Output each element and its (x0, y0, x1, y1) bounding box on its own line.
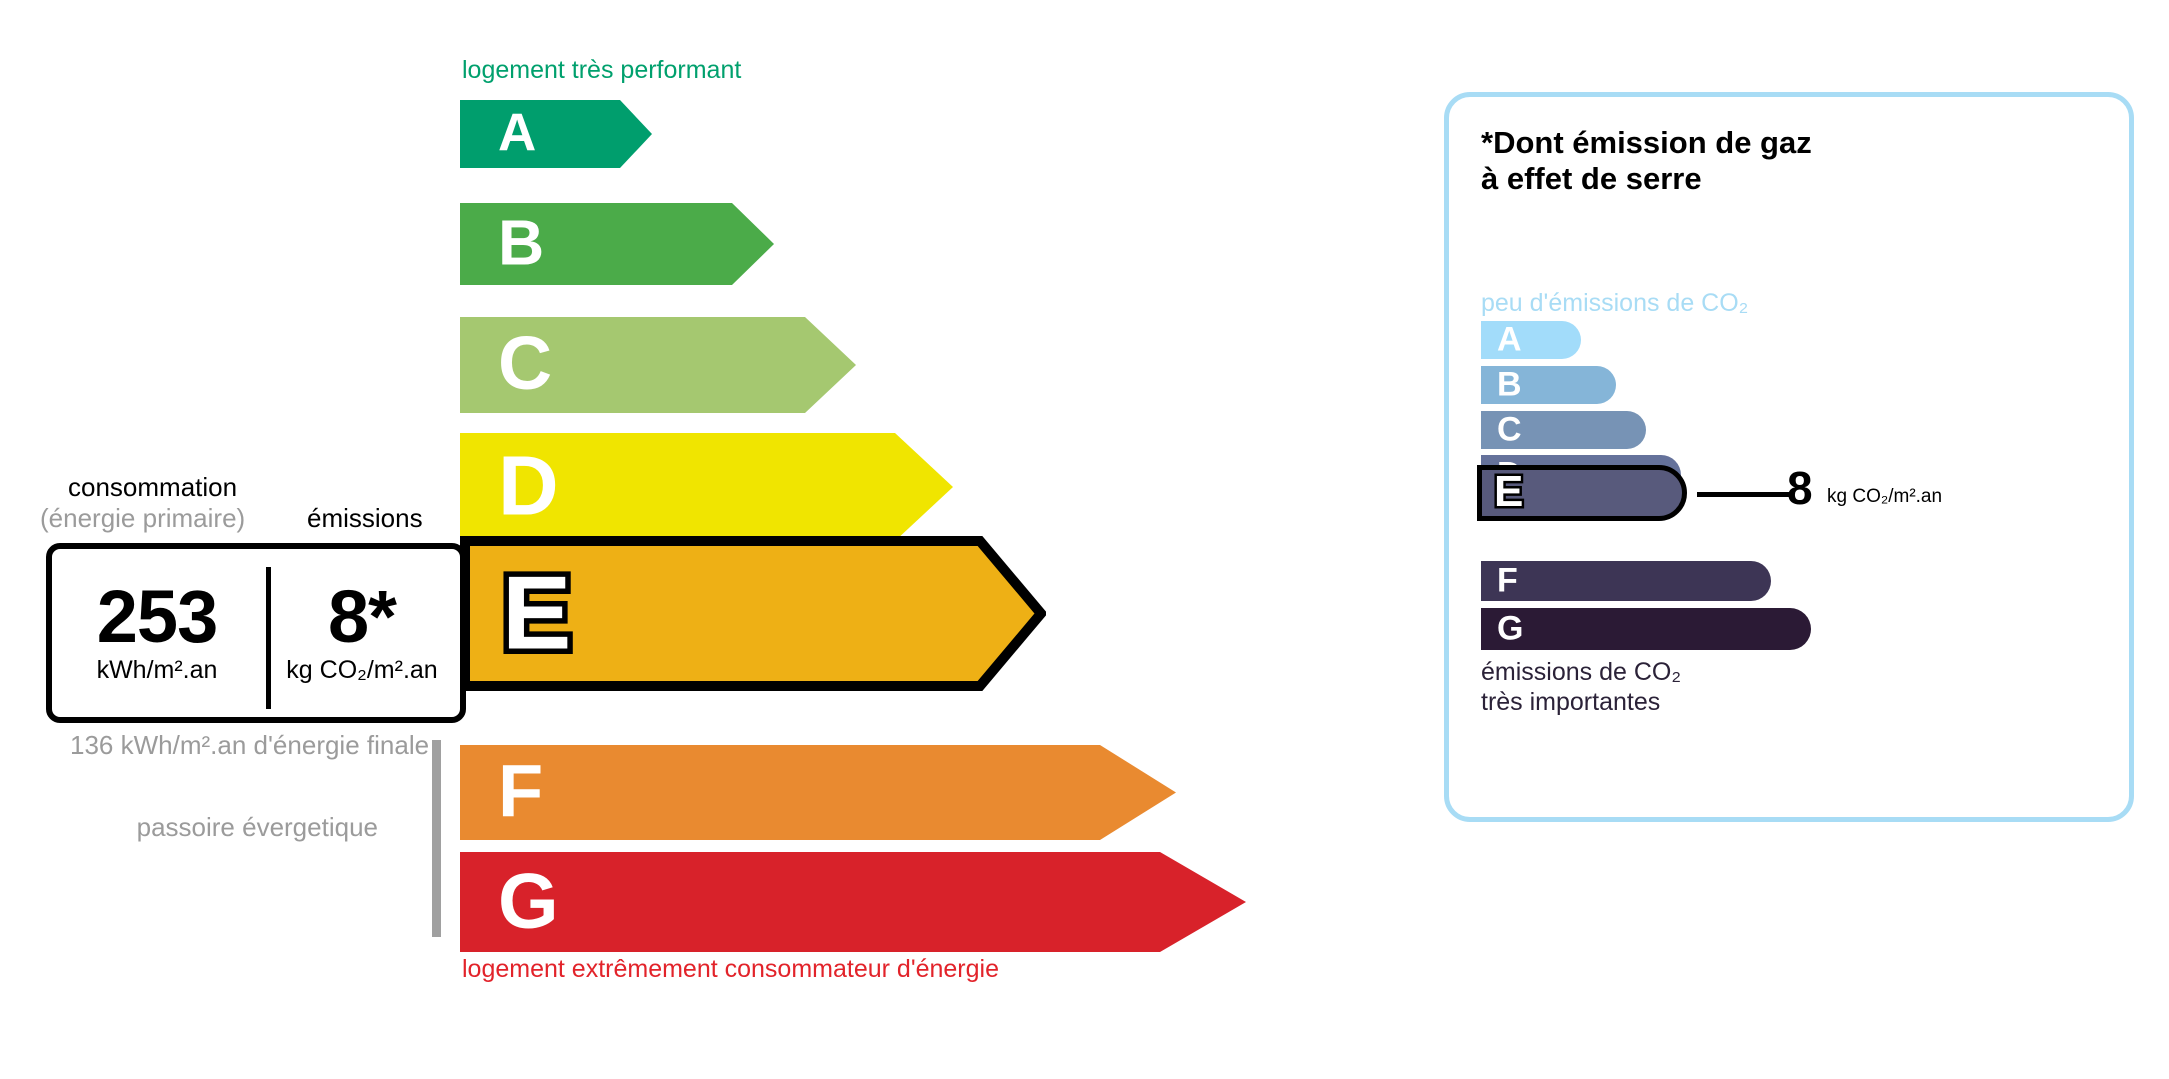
co2-bar-A[interactable]: A (1481, 321, 1581, 359)
co2-bar-letter-B: B (1497, 367, 1522, 401)
co2-bar-C[interactable]: C (1481, 411, 1646, 449)
consumption-value: 253 (97, 581, 217, 652)
energy-bottom-caption: logement extrêmement consommateur d'éner… (462, 955, 999, 984)
consumption-cell: 253 kWh/m².an (52, 549, 262, 717)
co2-top-caption: peu d'émissions de CO₂ (1481, 289, 1748, 318)
energy-performance-chart: logement très performant ABCDFG E logeme… (0, 0, 1400, 1079)
band-arrow-shape-D (460, 433, 953, 541)
co2-bar-B[interactable]: B (1481, 366, 1616, 404)
co2-bar-letter-F: F (1497, 563, 1518, 597)
co2-callout-value: 8 (1787, 465, 1813, 511)
label-passoire-energetique: passoire évergetique (128, 812, 378, 843)
energy-band-C[interactable]: C (460, 317, 856, 413)
energy-band-B[interactable]: B (460, 203, 774, 285)
value-summary-box: 253 kWh/m².an 8* kg CO₂/m².an (46, 543, 466, 723)
co2-bar-letter-C: C (1497, 412, 1522, 446)
consumption-unit: kWh/m².an (97, 656, 218, 685)
label-energie-finale: 136 kWh/m².an d'énergie finale (70, 730, 429, 761)
band-arrow-shape-F (460, 745, 1176, 840)
co2-callout-leader-line (1697, 492, 1792, 497)
energy-band-F[interactable]: F (460, 745, 1176, 840)
emission-unit: kg CO₂/m².an (286, 656, 437, 685)
co2-panel-title: *Dont émission de gaz à effet de serre (1481, 125, 1812, 197)
band-arrow-shape-C (460, 317, 856, 413)
emission-value: 8* (328, 581, 396, 652)
band-arrow-shape-G (460, 852, 1246, 952)
energy-top-caption: logement très performant (462, 56, 741, 85)
band-arrow-shape-B (460, 203, 774, 285)
co2-emissions-panel: *Dont émission de gaz à effet de serre p… (1444, 92, 2134, 822)
passoire-divider-line (432, 740, 441, 937)
label-consommation: consommation (68, 472, 237, 503)
label-energie-primaire: (énergie primaire) (40, 503, 245, 534)
energy-band-A[interactable]: A (460, 100, 652, 168)
co2-callout-unit: kg CO₂/m².an (1827, 486, 1942, 508)
co2-bar-E-letter: E (1494, 470, 1523, 514)
energy-band-G[interactable]: G (460, 852, 1246, 952)
co2-bar-letter-A: A (1497, 322, 1522, 356)
co2-bar-F[interactable]: F (1481, 561, 1771, 601)
band-arrow-shape-E: E (460, 536, 1046, 691)
svg-text:E: E (502, 556, 571, 672)
label-emissions: émissions (307, 503, 423, 534)
energy-band-D[interactable]: D (460, 433, 953, 541)
energy-band-E[interactable]: E (460, 536, 1046, 691)
co2-bottom-caption: émissions de CO₂ très importantes (1481, 657, 1681, 717)
co2-bar-G[interactable]: G (1481, 608, 1811, 650)
co2-bar-letter-G: G (1497, 611, 1523, 645)
emission-cell: 8* kg CO₂/m².an (264, 549, 460, 717)
band-arrow-shape-A (460, 100, 652, 168)
co2-bar-E[interactable]: E (1477, 465, 1687, 521)
